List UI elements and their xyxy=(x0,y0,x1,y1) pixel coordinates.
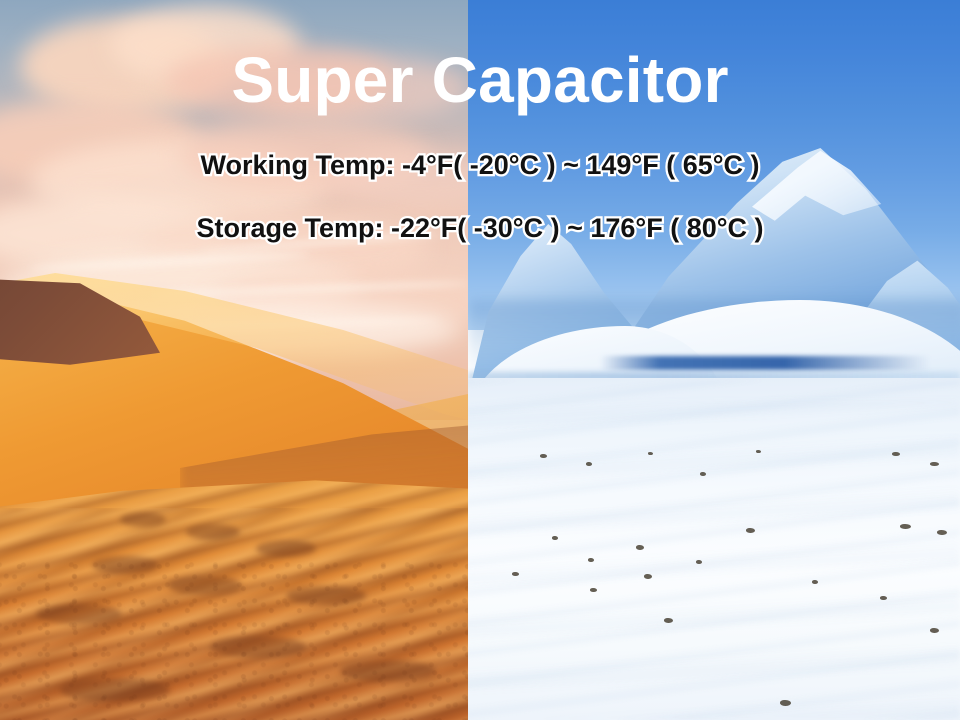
snow-rock xyxy=(746,528,755,533)
snow-rock xyxy=(636,545,644,550)
snow-rock xyxy=(540,454,547,458)
sand-pocket-shadow xyxy=(60,678,170,702)
snow-rock xyxy=(900,524,911,529)
snow-rock xyxy=(590,588,597,592)
snow-rock xyxy=(644,574,652,579)
snow-rock xyxy=(812,580,818,584)
snow-rock xyxy=(648,452,653,455)
sand-pocket-shadow xyxy=(340,660,436,682)
snow-rock xyxy=(880,596,887,600)
sand-pocket-shadow xyxy=(36,604,122,624)
storage-temp-spec: Storage Temp: -22°F( -30°C ) ~ 176°F ( 8… xyxy=(0,215,960,242)
snow-rock xyxy=(930,628,939,633)
snow-rock xyxy=(552,536,558,540)
sand-pocket-shadow xyxy=(256,540,316,557)
snow-drift-texture xyxy=(468,400,960,720)
sand-pocket-shadow xyxy=(210,636,306,658)
snow-rock xyxy=(892,452,900,456)
product-banner: Super Capacitor Working Temp: -4°F( -20°… xyxy=(0,0,960,720)
frozen-lake-edge xyxy=(600,356,930,370)
snow-rock xyxy=(586,462,592,466)
snow-rock xyxy=(512,572,519,576)
sand-pocket-shadow xyxy=(168,576,242,595)
snow-rock xyxy=(588,558,594,562)
snow-rock xyxy=(937,530,947,535)
working-temp-spec: Working Temp: -4°F( -20°C ) ~ 149°F ( 65… xyxy=(0,152,960,179)
snow-rock xyxy=(756,450,761,453)
page-title: Super Capacitor xyxy=(0,48,960,112)
snow-rock xyxy=(930,462,939,466)
snow-rock xyxy=(664,618,673,623)
snow-rock xyxy=(780,700,791,706)
snow-rock xyxy=(696,560,702,564)
sand-pocket-shadow xyxy=(286,586,366,605)
sand-pocket-shadow xyxy=(120,512,166,527)
snow-rock xyxy=(700,472,706,476)
sand-pocket-shadow xyxy=(92,556,158,574)
sand-pocket-shadow xyxy=(186,524,240,540)
